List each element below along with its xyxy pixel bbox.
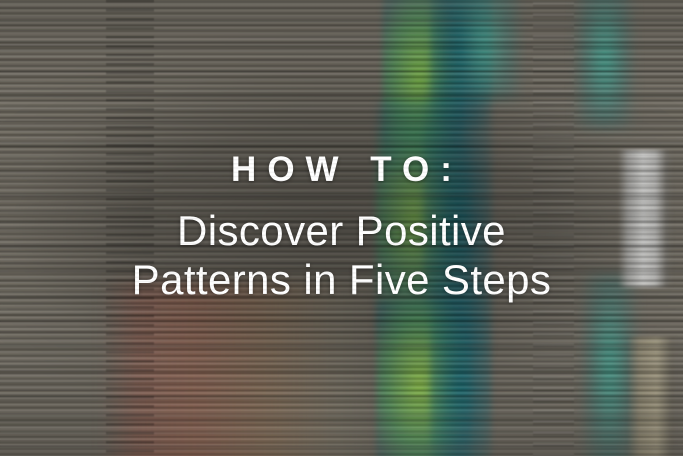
- headline-line-2: Patterns in Five Steps: [132, 255, 552, 304]
- headline-kicker: HOW TO:: [220, 152, 463, 187]
- headline-line-1: Discover Positive: [177, 206, 506, 255]
- how-to-banner: HOW TO: Discover Positive Patterns in Fi…: [0, 0, 683, 456]
- headline-block: HOW TO: Discover Positive Patterns in Fi…: [0, 0, 683, 456]
